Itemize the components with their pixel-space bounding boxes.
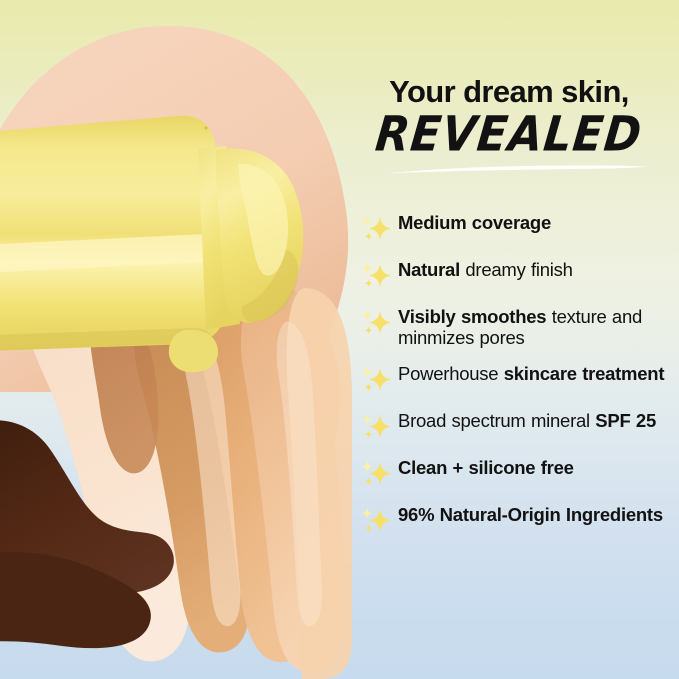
headline-block: Your dream skin, REVEALED xyxy=(348,76,670,171)
headline-line-2: REVEALED xyxy=(345,108,672,159)
headline-revealed-wrap: REVEALED xyxy=(348,111,670,171)
sparkle-icon xyxy=(360,366,392,396)
product-tube-barrel xyxy=(0,116,226,352)
sparkle-icon xyxy=(360,413,392,443)
feature-item-label: Medium coverage xyxy=(398,212,678,233)
product-feature-graphic: Your dream skin, REVEALED Medium coverag… xyxy=(0,0,679,679)
feature-item-label: Visibly smoothes texture and minmizes po… xyxy=(398,306,678,349)
feature-item-label: Powerhouse skincare treatment xyxy=(398,363,678,384)
product-tube-nub xyxy=(169,330,218,373)
feature-item-label: Clean + silicone free xyxy=(398,457,678,478)
sparkle-icon xyxy=(360,507,392,537)
brush-underline-icon xyxy=(386,164,648,175)
feature-item-visibly-smoothes: Visibly smoothes texture and minmizes po… xyxy=(360,306,678,349)
feature-item-label: 96% Natural-Origin Ingredients xyxy=(398,504,678,525)
feature-item-medium-coverage: Medium coverage xyxy=(360,212,678,245)
feature-item-label: Broad spectrum mineral SPF 25 xyxy=(398,410,678,431)
feature-item-spf-25: Broad spectrum mineral SPF 25 xyxy=(360,410,678,443)
sparkle-icon xyxy=(360,262,392,292)
sparkle-icon xyxy=(360,460,392,490)
feature-item-label: Natural dreamy finish xyxy=(398,259,678,280)
sparkle-icon xyxy=(360,309,392,339)
feature-item-natural-finish: Natural dreamy finish xyxy=(360,259,678,292)
feature-item-powerhouse-skincare: Powerhouse skincare treatment xyxy=(360,363,678,396)
sparkle-icon xyxy=(360,215,392,245)
feature-list: Medium coverageNatural dreamy finishVisi… xyxy=(360,212,678,551)
copy-column: Your dream skin, REVEALED Medium coverag… xyxy=(348,0,679,679)
headline-line-1: Your dream skin, xyxy=(348,76,670,109)
feature-item-clean-silicone-free: Clean + silicone free xyxy=(360,457,678,490)
feature-item-natural-origin: 96% Natural-Origin Ingredients xyxy=(360,504,678,537)
tube-speck xyxy=(204,126,207,129)
